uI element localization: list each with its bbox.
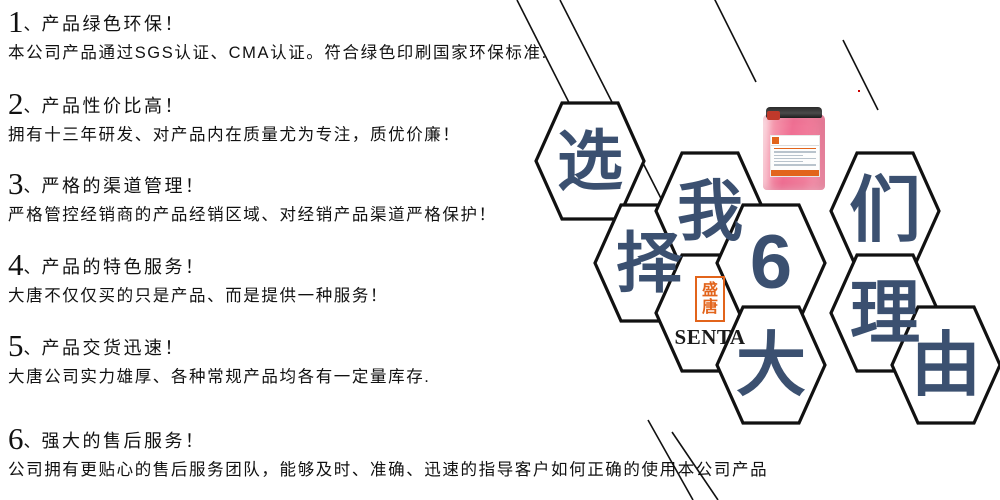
hexagon-label: 6	[750, 225, 792, 301]
hexagon-label: 择	[616, 230, 682, 296]
label-line	[774, 151, 816, 152]
hexagon-cluster: 选 择 我 盛 唐 SENTA	[0, 0, 1000, 500]
promo-banner: 1、产品绿色环保！ 本公司产品通过SGS认证、CMA认证。符合绿色印刷国家环保标…	[0, 0, 1000, 500]
label-line	[774, 158, 816, 159]
brand-name: SENTA	[675, 325, 746, 350]
product-jerrycan-image	[757, 102, 833, 202]
jerrycan-label	[770, 135, 820, 177]
label-logo-square-icon	[772, 137, 779, 144]
hexagon-label: 们	[849, 175, 921, 247]
label-footer-bar	[771, 170, 819, 176]
hexagon-label: 我	[677, 178, 743, 244]
hexagon-label: 由	[911, 330, 981, 400]
hexagon-label: 选	[557, 128, 623, 194]
brand-seal-char-2: 唐	[702, 299, 718, 316]
label-line	[774, 161, 803, 162]
label-line	[774, 164, 816, 165]
label-line	[774, 155, 803, 156]
brand-seal-icon: 盛 唐	[695, 276, 725, 322]
brand-logo: 盛 唐 SENTA	[675, 276, 746, 350]
hexagon-label: 理	[850, 278, 920, 348]
jerrycan-cap	[767, 111, 780, 120]
hexagon-label: 大	[736, 330, 806, 400]
label-line	[774, 148, 816, 149]
label-header	[771, 136, 819, 146]
